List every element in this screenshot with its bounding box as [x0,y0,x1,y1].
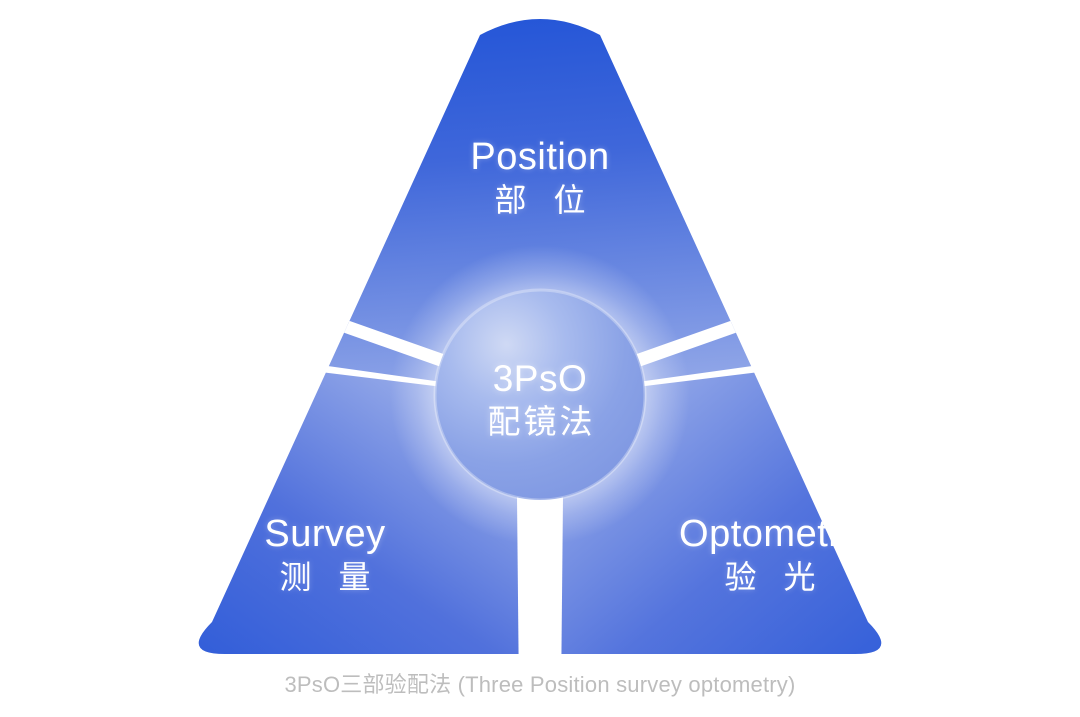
triangle-graphic [0,0,1080,717]
diagram-caption: 3PsO三部验配法 (Three Position survey optomet… [0,670,1080,700]
diagram-root: Position 部 位 Survey 测 量 Optometry 验 光 3P… [0,0,1080,717]
